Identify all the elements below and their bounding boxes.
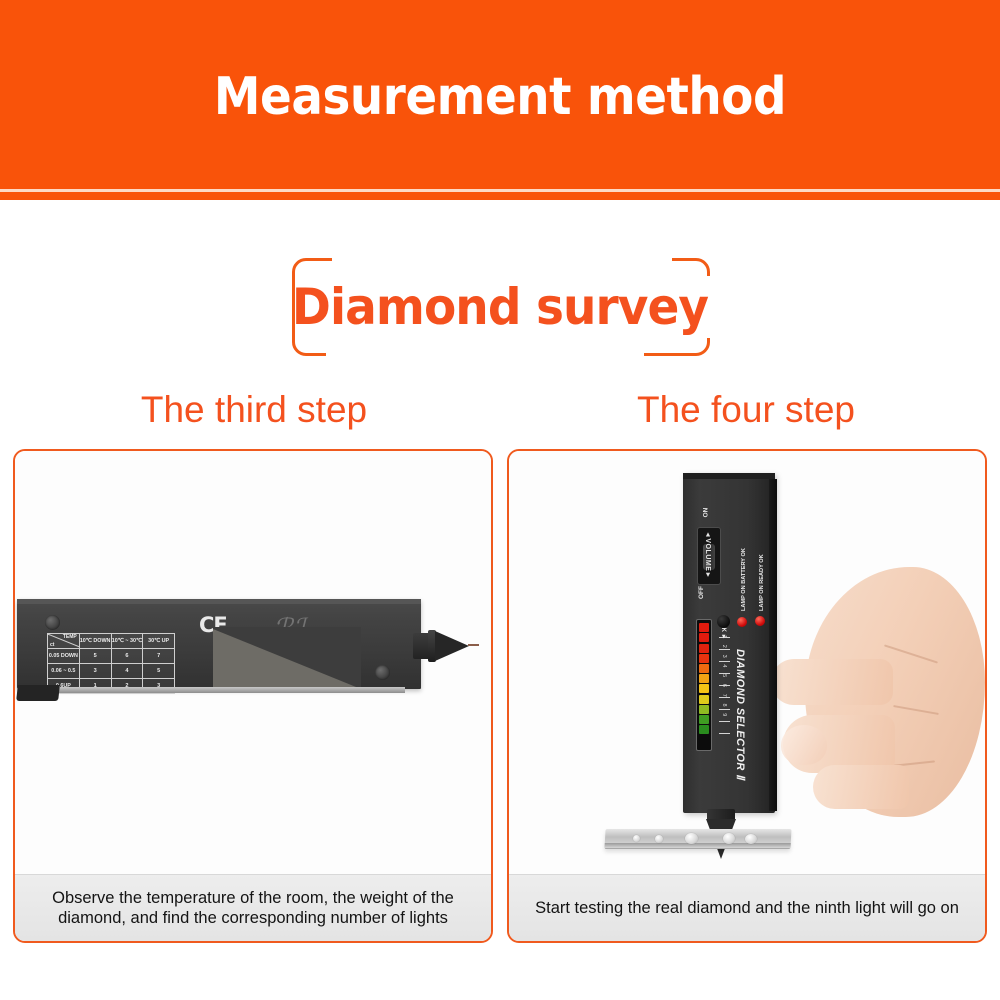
probe-needle: [468, 644, 479, 646]
table-row: 0.06 ~ 0.5 3 4 5: [48, 664, 175, 679]
step-caption-text: Observe the temperature of the room, the…: [15, 888, 491, 928]
led-level-bar: [696, 619, 712, 751]
diamond-tester-vertical: ON OFF ◄VOLUME►: [683, 473, 781, 823]
probe-tip-horizontal: [413, 625, 479, 667]
tester-body: ON OFF ◄VOLUME►: [683, 473, 775, 813]
table-cell: 4: [111, 664, 143, 679]
switch-off-label: OFF: [698, 586, 705, 599]
volume-label: ◄VOLUME►: [704, 531, 711, 579]
battery-led-icon: [737, 617, 747, 627]
table-cell: 3: [79, 664, 111, 679]
step-panel-third: CE ℛℐ TEMP ct 10℃ DOWN 10℃ ~ 30℃ 30℃ UP: [13, 449, 493, 943]
tester-side-edge: [769, 479, 777, 811]
header-divider-bottom: [0, 192, 1000, 200]
tester-top-edge: [17, 599, 421, 604]
gem-stand: [605, 827, 791, 855]
test-button[interactable]: [717, 615, 730, 628]
table-col-header: 30℃ UP: [143, 634, 175, 649]
page-header: Measurement method: [0, 0, 1000, 200]
ready-led-icon: [755, 616, 765, 626]
table-col-header: 10℃ ~ 30℃: [111, 634, 143, 649]
gemstone: [685, 833, 698, 844]
index-finger: [771, 659, 893, 705]
tester-silver-trim: [35, 687, 405, 693]
step-caption-text: Start testing the real diamond and the n…: [529, 898, 965, 918]
table-cell: 5: [79, 649, 111, 664]
gemstone: [723, 833, 735, 844]
step-panel-four: ON OFF ◄VOLUME►: [507, 449, 987, 943]
table-cell: 6: [111, 649, 143, 664]
switch-on-label: ON: [702, 508, 709, 518]
tester-body: CE ℛℐ TEMP ct 10℃ DOWN 10℃ ~ 30℃ 30℃ UP: [17, 599, 421, 689]
table-corner-ct-label: ct: [50, 642, 54, 648]
step-label-four: The four step: [506, 389, 986, 431]
diamond-tester-horizontal: CE ℛℐ TEMP ct 10℃ DOWN 10℃ ~ 30℃ 30℃ UP: [17, 599, 427, 697]
triangular-plate: [213, 627, 361, 689]
survey-frame-mask-top: [332, 254, 672, 262]
hand-holding-device: [765, 567, 985, 827]
fingernail: [781, 725, 827, 765]
table-row: 0.05 DOWN 5 6 7: [48, 649, 175, 664]
table-row-header: 0.05 DOWN: [48, 649, 80, 664]
table-row-header: 0.06 ~ 0.5: [48, 664, 80, 679]
table-corner-temp-label: TEMP: [63, 634, 77, 640]
ready-lamp-label: LAMP ON READY OK: [759, 554, 765, 611]
battery-lamp-label: LAMP ON BATTERY OK: [741, 548, 747, 611]
screw-icon: [375, 665, 390, 680]
step-caption-four: Start testing the real diamond and the n…: [509, 874, 985, 941]
gemstone: [655, 835, 663, 843]
table-cell: 5: [143, 664, 175, 679]
survey-title: Diamond survey: [30, 272, 970, 342]
device-brand-label: DIAMOND SELECTOR Ⅱ: [734, 649, 747, 780]
step-photo-four: ON OFF ◄VOLUME►: [509, 451, 985, 878]
table-cell: 7: [143, 649, 175, 664]
table-corner-cell: TEMP ct: [48, 634, 80, 649]
gemstone: [745, 834, 757, 844]
tester-top-cap: [683, 473, 775, 479]
gemstone: [633, 835, 640, 842]
tester-foot: [16, 685, 60, 701]
step-caption-third: Observe the temperature of the room, the…: [15, 874, 491, 941]
temperature-chart-table: TEMP ct 10℃ DOWN 10℃ ~ 30℃ 30℃ UP 0.05 D…: [47, 633, 175, 694]
screw-icon: [45, 615, 60, 630]
page-title: Measurement method: [50, 66, 950, 128]
step-photo-third: CE ℛℐ TEMP ct 10℃ DOWN 10℃ ~ 30℃ 30℃ UP: [15, 451, 491, 878]
scale-numbers: 1 2 3 4 5 6 7 8 9: [721, 635, 727, 719]
step-label-third: The third step: [14, 389, 494, 431]
table-col-header: 10℃ DOWN: [79, 634, 111, 649]
survey-frame-mask-bottom: [326, 350, 644, 359]
ring-finger: [813, 765, 909, 809]
probe-cone: [435, 631, 469, 661]
